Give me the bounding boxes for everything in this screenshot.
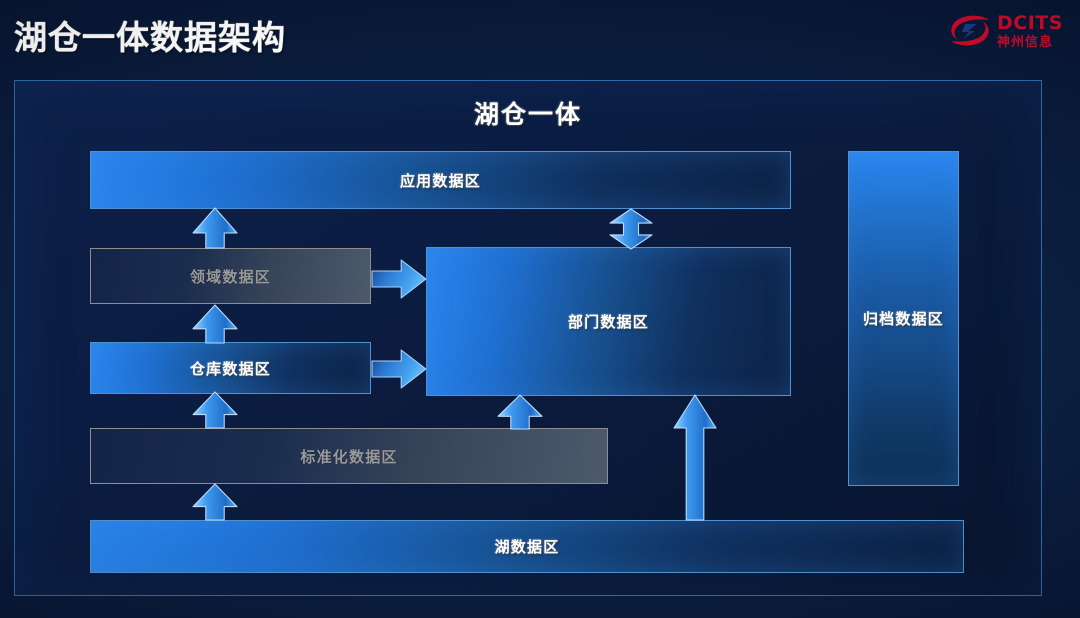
box-label: 标准化数据区 bbox=[300, 446, 397, 467]
arrow-standard-to-dept-icon bbox=[497, 394, 543, 430]
logo-brand: DCITS bbox=[997, 14, 1063, 33]
page-title: 湖仓一体数据架构 bbox=[14, 11, 286, 59]
box-standard-data-zone[interactable]: 标准化数据区 bbox=[90, 428, 608, 484]
box-label: 部门数据区 bbox=[568, 311, 649, 332]
box-label: 归档数据区 bbox=[863, 308, 944, 329]
box-domain-data-zone[interactable]: 领域数据区 bbox=[90, 248, 371, 304]
box-label: 应用数据区 bbox=[400, 170, 481, 191]
logo-text: DCITS 神州信息 bbox=[997, 14, 1063, 48]
box-label: 湖数据区 bbox=[495, 536, 560, 557]
box-label: 领域数据区 bbox=[190, 266, 271, 287]
box-label: 仓库数据区 bbox=[190, 358, 271, 379]
architecture-frame: 湖仓一体 应用数据区领域数据区部门数据区归档数据区仓库数据区标准化数据区湖数据区 bbox=[14, 80, 1042, 596]
arrow-warehouse-to-dept-icon bbox=[371, 349, 427, 389]
arrow-lake-to-dept-icon bbox=[673, 394, 717, 521]
box-lake-data-zone[interactable]: 湖数据区 bbox=[90, 520, 964, 573]
box-warehouse-data-zone[interactable]: 仓库数据区 bbox=[90, 342, 371, 394]
arrow-standard-to-warehouse-icon bbox=[192, 391, 238, 429]
arrow-app-dept-bidir-icon bbox=[609, 208, 653, 250]
box-app-data-zone[interactable]: 应用数据区 bbox=[90, 151, 791, 209]
box-dept-data-zone[interactable]: 部门数据区 bbox=[426, 247, 791, 396]
arrow-lake-to-standard-icon bbox=[192, 483, 238, 521]
box-archive-data-zone[interactable]: 归档数据区 bbox=[848, 151, 959, 486]
arrow-warehouse-to-domain-icon bbox=[192, 304, 238, 344]
dcits-swirl-icon bbox=[948, 13, 992, 49]
page-header: 湖仓一体数据架构 DCITS 神州信息 bbox=[0, 0, 1080, 66]
frame-title: 湖仓一体 bbox=[15, 95, 1041, 131]
logo-subbrand: 神州信息 bbox=[997, 35, 1063, 48]
arrow-domain-to-app-icon bbox=[192, 207, 238, 249]
company-logo: DCITS 神州信息 bbox=[948, 8, 1070, 54]
arrow-domain-to-dept-icon bbox=[371, 259, 427, 299]
